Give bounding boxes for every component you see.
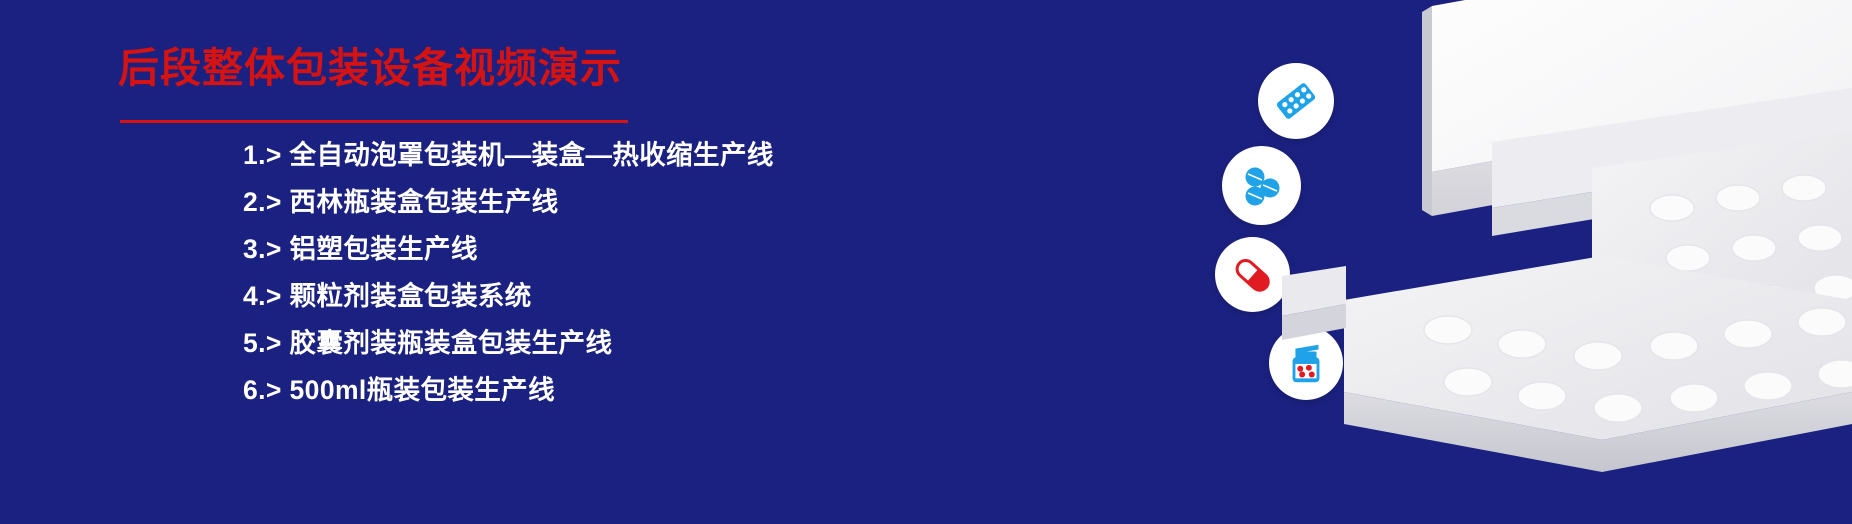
list-item-label: 铝塑包装生产线 (290, 234, 478, 264)
carton-tab (1282, 266, 1346, 340)
list-item-number: 3.> (243, 234, 290, 264)
page-title: 后段整体包装设备视频演示 (118, 44, 622, 93)
promo-banner: 后段整体包装设备视频演示 1.> 全自动泡罩包装机—装盒—热收缩生产线 2.> … (0, 0, 1852, 524)
title-underline (120, 120, 628, 123)
list-item-number: 1.> (243, 140, 290, 170)
list-item[interactable]: 5.> 胶囊剂装瓶装盒包装生产线 (243, 320, 963, 367)
blister-tray-lower (1344, 256, 1852, 472)
list-item[interactable]: 3.> 铝塑包装生产线 (243, 226, 963, 273)
video-list: 1.> 全自动泡罩包装机—装盒—热收缩生产线 2.> 西林瓶装盒包装生产线 3.… (243, 132, 963, 414)
list-item[interactable]: 1.> 全自动泡罩包装机—装盒—热收缩生产线 (243, 132, 963, 179)
list-item-number: 5.> (243, 328, 290, 358)
list-item[interactable]: 6.> 500ml瓶装包装生产线 (243, 367, 963, 414)
packaging-illustration (1132, 0, 1852, 524)
list-item-number: 4.> (243, 281, 290, 311)
list-item[interactable]: 2.> 西林瓶装盒包装生产线 (243, 179, 963, 226)
list-item-label: 西林瓶装盒包装生产线 (290, 187, 559, 217)
text-block: 后段整体包装设备视频演示 1.> 全自动泡罩包装机—装盒—热收缩生产线 2.> … (0, 0, 980, 524)
list-item[interactable]: 4.> 颗粒剂装盒包装系统 (243, 273, 963, 320)
carton-blister-artwork (1132, 0, 1852, 524)
list-item-label: 全自动泡罩包装机—装盒—热收缩生产线 (290, 140, 774, 170)
list-item-number: 6.> (243, 375, 290, 405)
list-item-label: 颗粒剂装盒包装系统 (290, 281, 532, 311)
list-item-number: 2.> (243, 187, 290, 217)
list-item-label: 胶囊剂装瓶装盒包装生产线 (290, 328, 613, 358)
list-item-label: 500ml瓶装包装生产线 (290, 375, 555, 405)
